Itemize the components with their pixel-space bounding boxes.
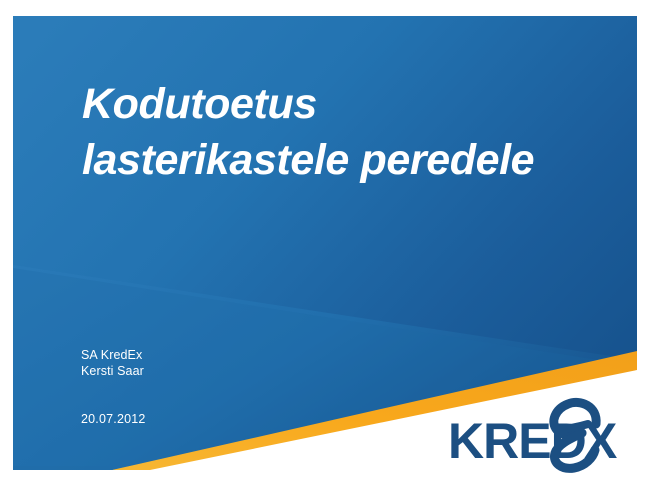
- page-title: Kodutoetus lasterikastele peredele: [82, 76, 622, 188]
- presenter-name: Kersti Saar: [81, 363, 144, 379]
- title-line-2: lasterikastele peredele: [82, 132, 622, 188]
- kredex-logo-mark: KRED X: [448, 396, 640, 474]
- kredex-logo: KRED X: [448, 396, 640, 474]
- presenter-organization: SA KredEx: [81, 347, 144, 363]
- slide-date: 20.07.2012: [81, 411, 146, 427]
- presenter-info: SA KredEx Kersti Saar: [81, 347, 144, 379]
- kredex-wordmark-tail: X: [584, 413, 617, 469]
- title-line-1: Kodutoetus: [82, 76, 622, 132]
- title-slide: Kodutoetus lasterikastele peredele SA Kr…: [0, 0, 650, 487]
